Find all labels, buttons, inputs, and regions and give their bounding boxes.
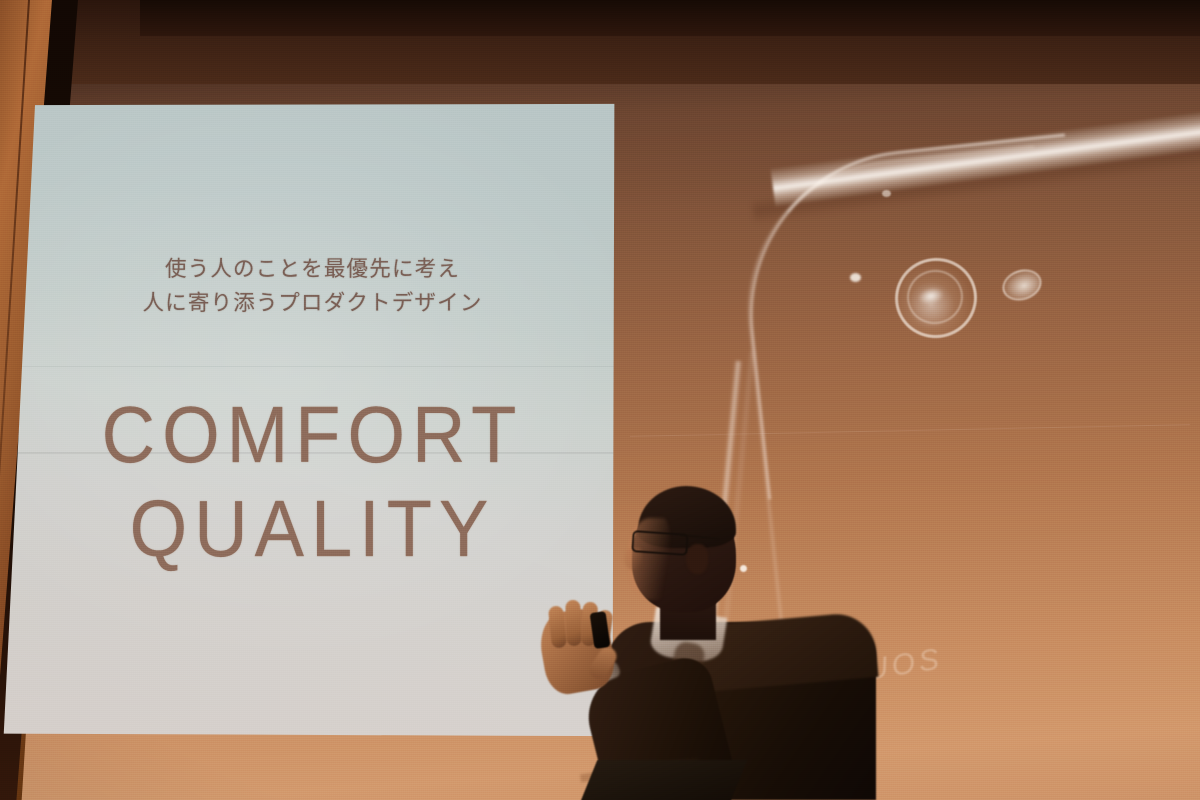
presenter-silhouette [520,470,940,800]
ceiling-band-upper [140,0,1200,36]
slide-headline-line-1: 使う人のことを最優先に考え [0,252,625,283]
presenter-finger [565,600,582,646]
slide-keyword-comfort: COMFORT [0,395,625,475]
slide-headline-line-2: 人に寄り添うプロダクトデザイン [0,286,625,317]
presentation-photo-stage: AQUOS 使う人のことを最優先に考え 人に寄り添うプロダクトデザイン COMF… [0,0,1200,800]
presenter-ear [686,544,708,574]
podium [579,760,748,800]
